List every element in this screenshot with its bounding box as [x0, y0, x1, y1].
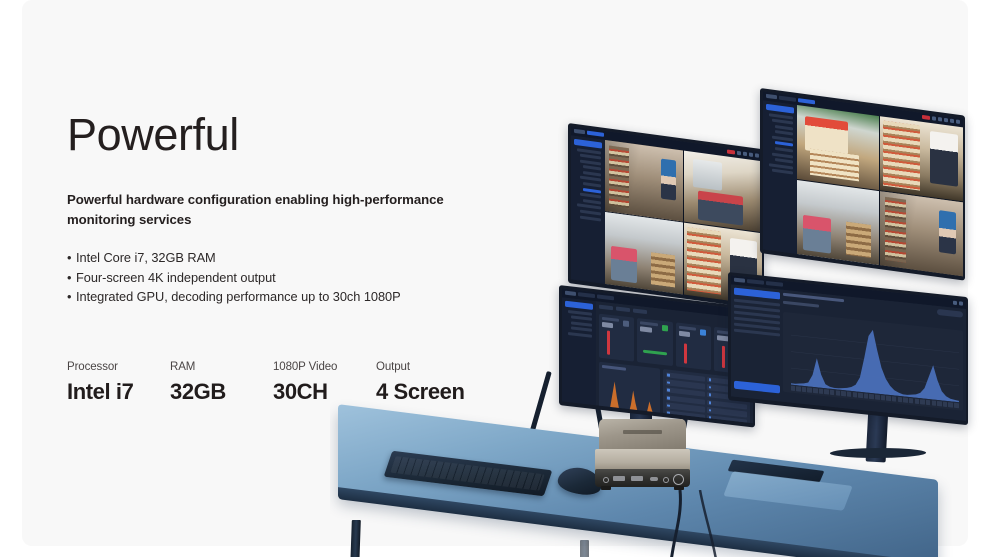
monitor-bottom-right [728, 272, 968, 425]
tab-playback[interactable] [779, 95, 796, 102]
events-spike-chart [603, 379, 656, 419]
kpi-progress-bar [643, 350, 667, 355]
cables [630, 490, 750, 557]
audio-jack-icon [603, 477, 609, 483]
tree-node[interactable] [583, 165, 601, 170]
camera-tile[interactable] [605, 139, 683, 221]
chart-subtitle [783, 301, 819, 308]
tree-node[interactable] [775, 130, 793, 135]
chart-title [783, 292, 844, 302]
device-tree-sidebar[interactable] [571, 135, 605, 284]
tree-node-selected[interactable] [775, 141, 793, 146]
camera-tile[interactable] [605, 212, 683, 294]
camera-grid [797, 104, 963, 275]
cable-line [700, 490, 719, 557]
fullscreen-icon[interactable] [743, 152, 747, 157]
spec-processor: Processor Intel i7 [67, 360, 170, 405]
bullet-icon: • [67, 287, 76, 307]
menu-item[interactable] [571, 321, 592, 326]
tree-node[interactable] [580, 159, 601, 165]
app-logo-icon [574, 129, 585, 134]
tree-node[interactable] [772, 152, 793, 158]
event-list-column [666, 372, 705, 423]
monitor-top-right [760, 88, 965, 281]
spec-label: Processor [67, 360, 170, 374]
tab-live-view[interactable] [587, 130, 604, 137]
close-icon[interactable] [959, 301, 963, 305]
chart-type-toggle[interactable] [937, 308, 963, 317]
usb-port-icon [613, 476, 625, 481]
tree-node[interactable] [580, 154, 601, 160]
usb-port-icon [631, 476, 643, 481]
tree-node[interactable] [772, 169, 793, 175]
events-spike-chart-svg [603, 379, 656, 419]
record-indicator-icon [922, 115, 930, 121]
close-icon[interactable] [956, 119, 960, 124]
menu-item[interactable] [571, 315, 592, 320]
monitor-bottom-left [559, 285, 755, 428]
tree-node[interactable] [580, 193, 601, 199]
export-button[interactable] [734, 380, 780, 393]
mini-pc-top-cover [599, 419, 686, 452]
kpi-title [640, 321, 658, 326]
kpi-value [602, 321, 614, 327]
spec-value: Intel i7 [67, 379, 170, 405]
spec-label: RAM [170, 360, 273, 374]
kpi-bar [684, 343, 687, 363]
tab-statistics[interactable] [747, 279, 764, 285]
tree-node[interactable] [583, 182, 601, 187]
add-device-button[interactable] [766, 103, 794, 113]
tab-reports[interactable] [597, 294, 614, 300]
usb-c-port-icon [650, 477, 658, 481]
help-icon[interactable] [953, 301, 957, 305]
mini-pc-foot [601, 486, 611, 490]
device-filter[interactable] [616, 306, 630, 312]
tree-node[interactable] [772, 119, 793, 125]
cable-line [670, 490, 681, 557]
date-filter[interactable] [599, 305, 613, 311]
led-indicator-icon [663, 477, 669, 483]
bullet-icon: • [67, 268, 76, 288]
bullet-icon: • [67, 248, 76, 268]
tree-node-selected[interactable] [583, 188, 601, 193]
tree-node[interactable] [580, 176, 601, 182]
tree-node[interactable] [583, 199, 601, 204]
camera-tile[interactable] [797, 179, 880, 264]
monitor-stand-base [827, 448, 928, 458]
add-device-button[interactable] [574, 138, 602, 148]
grid-layout-icon[interactable] [737, 151, 741, 156]
desk-leg [348, 520, 361, 557]
app-logo-icon [766, 94, 777, 99]
menu-item[interactable] [568, 332, 592, 338]
settings-icon[interactable] [749, 152, 753, 157]
device-tree-sidebar[interactable] [763, 100, 797, 254]
mini-pc [595, 419, 690, 491]
camera-tile[interactable] [684, 150, 762, 232]
power-button[interactable] [673, 474, 684, 485]
close-icon[interactable] [755, 153, 759, 158]
storage-icon [700, 329, 706, 336]
promo-banner: Powerful Powerful hardware configuration… [0, 0, 1000, 557]
status-ok-icon [662, 324, 668, 331]
dashboard-sidebar[interactable] [562, 297, 596, 405]
screen [731, 275, 966, 421]
app-logo-icon [565, 291, 576, 296]
type-filter[interactable] [633, 308, 647, 314]
tree-node[interactable] [580, 215, 601, 221]
camera-tile[interactable] [880, 116, 963, 201]
query-button[interactable] [734, 287, 780, 299]
statistics-sidebar[interactable] [734, 287, 780, 393]
panel-title [602, 364, 627, 370]
list-item-label: Intel Core i7, 32GB RAM [76, 250, 216, 265]
snapshot-icon[interactable] [938, 117, 942, 122]
tree-node[interactable] [580, 210, 601, 216]
kpi-title [679, 325, 697, 330]
minimize-icon[interactable] [950, 119, 954, 124]
statistics-page [731, 284, 966, 421]
tab-live-view[interactable] [798, 98, 815, 105]
kpi-title [602, 316, 620, 321]
record-indicator-icon [727, 149, 735, 155]
tab-overview[interactable] [578, 292, 595, 298]
grid-layout-icon[interactable] [932, 116, 936, 121]
app-logo-icon [734, 278, 745, 283]
tree-node[interactable] [775, 158, 793, 163]
tree-node[interactable] [775, 147, 793, 152]
list-item-label: Four-screen 4K independent output [76, 270, 276, 285]
tree-node[interactable] [583, 171, 601, 176]
camera-tile[interactable] [797, 104, 880, 189]
kpi-value [679, 330, 691, 336]
kpi-card-cpu [599, 313, 635, 361]
kpi-card-bandwidth [637, 317, 673, 365]
kpi-card-storage [676, 322, 712, 370]
tab-settings[interactable] [766, 281, 783, 287]
settings-icon[interactable] [944, 118, 948, 123]
product-photo [330, 70, 980, 557]
spec-ram: RAM 32GB [170, 360, 273, 405]
screen [763, 91, 963, 276]
camera-tile[interactable] [880, 191, 963, 276]
tree-node[interactable] [775, 125, 793, 130]
mini-pc-port-panel [595, 469, 690, 487]
desk-leg [580, 540, 589, 557]
kpi-bar [607, 330, 610, 354]
kpi-bar [722, 345, 725, 367]
menu-item[interactable] [568, 309, 592, 315]
spec-value: 32GB [170, 379, 273, 405]
new-report-button[interactable] [565, 300, 593, 309]
screen [562, 288, 753, 423]
menu-item[interactable] [571, 327, 592, 332]
tree-node[interactable] [772, 135, 793, 141]
kpi-value [640, 326, 652, 332]
cpu-icon [623, 320, 629, 327]
traffic-area-chart-panel [783, 311, 963, 410]
